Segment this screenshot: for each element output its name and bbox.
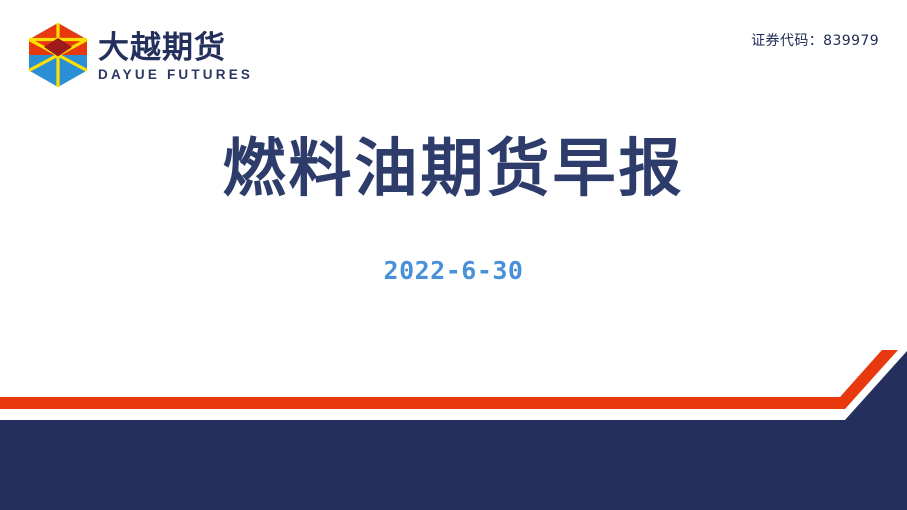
page-title: 燃料油期货早报	[0, 132, 907, 204]
footer-orange-stripe	[0, 350, 907, 409]
dayue-hexagon-cube-logo-icon	[28, 22, 88, 88]
footer-decoration	[0, 350, 907, 510]
securities-code: 证券代码：839979	[751, 30, 879, 50]
report-date: 2022-6-30	[0, 256, 907, 285]
brand-name-cn: 大越期货	[98, 32, 253, 65]
report-cover-slide: 大越期货 DAYUE FUTURES 证券代码：839979 燃料油期货早报 2…	[0, 0, 907, 510]
brand-lockup: 大越期货 DAYUE FUTURES	[28, 22, 253, 88]
brand-wordmark: 大越期货 DAYUE FUTURES	[98, 28, 253, 83]
footer-navy-band	[0, 351, 907, 510]
brand-name-en: DAYUE FUTURES	[98, 68, 253, 83]
